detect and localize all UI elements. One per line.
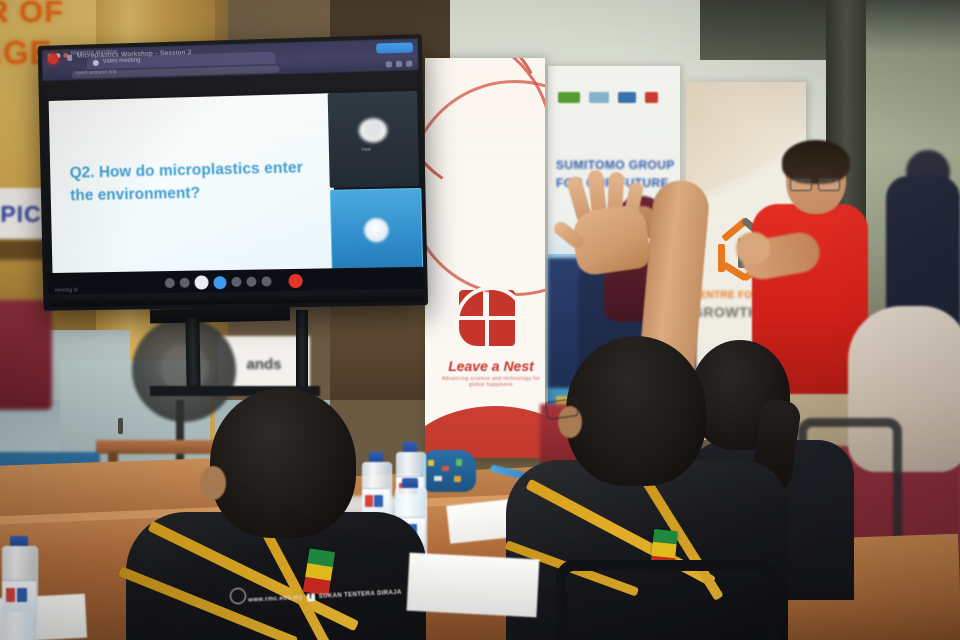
browser-toolbar-icons[interactable]	[386, 61, 413, 68]
meeting-controls[interactable]	[164, 274, 302, 290]
photo-scene: R OF AGE PIC ands SUMITOMO GROUP FOR OUR…	[0, 0, 960, 640]
participant-tiles: Host	[328, 91, 422, 283]
leave-a-nest-name: Leave a Nest	[441, 358, 541, 374]
student-front-right-head	[566, 336, 706, 486]
red-bag	[0, 300, 52, 410]
presentation-slide: Q2. How do microplastics enter the envir…	[49, 93, 336, 279]
mic-button[interactable]	[164, 278, 174, 288]
slide-question-text: Q2. How do microplastics enter the envir…	[70, 156, 319, 208]
facilitator-hand	[736, 232, 770, 264]
standing-fan	[132, 318, 236, 422]
participants-button[interactable]	[231, 277, 241, 287]
leave-a-nest-logo-icon	[459, 290, 515, 346]
worksheet-paper	[407, 553, 540, 618]
leave-a-nest-tagline: Advancing science and technology for glo…	[441, 376, 541, 388]
avatar	[359, 118, 388, 143]
address-bar-text: meet session link	[75, 69, 117, 76]
facilitator-glasses-icon	[790, 178, 842, 189]
share-screen-button[interactable]	[194, 275, 208, 289]
chat-button[interactable]	[246, 277, 256, 287]
participant-tile-1-label: Host	[361, 147, 371, 152]
leave-a-nest-circle	[425, 80, 545, 296]
share-button[interactable]	[376, 42, 413, 53]
door-handle	[118, 418, 123, 434]
pencil-case	[420, 450, 476, 492]
student-front-left-head	[210, 388, 356, 538]
participant-tile-2[interactable]	[330, 188, 424, 279]
browser-tab-label: Video meeting	[103, 58, 141, 65]
participant-tile-1[interactable]: Host	[328, 91, 420, 188]
tv-display: Meeting window Video meeting meet sessio…	[42, 38, 424, 307]
raised-hand	[548, 172, 656, 268]
lock-icon	[67, 55, 72, 61]
pic-sign-label: PIC	[0, 201, 41, 228]
banner-leave-a-nest: Leave a Nest Advancing science and techn…	[425, 58, 545, 458]
ear	[200, 466, 226, 500]
tv-stand-leg	[185, 318, 200, 388]
wall-mounted-tv: Meeting window Video meeting meet sessio…	[38, 34, 428, 311]
end-call-button[interactable]	[288, 274, 302, 288]
sumitomo-line1: SUMITOMO GROUP	[556, 158, 680, 172]
more-options-button[interactable]	[261, 276, 271, 286]
water-bottle	[2, 536, 36, 640]
sign-behind-tv-label: ands	[246, 356, 281, 373]
orange-sign-line1: R OF	[0, 0, 64, 27]
facebook-icon: f	[307, 593, 315, 601]
raise-hand-button[interactable]	[213, 276, 226, 289]
avatar	[364, 218, 389, 243]
camera-button[interactable]	[179, 278, 189, 288]
meeting-stage: Q2. How do microplastics enter the envir…	[43, 89, 424, 289]
meeting-footer-text: meeting id	[55, 287, 78, 293]
chair-front-right	[556, 560, 778, 640]
sumitomo-partner-logos	[558, 88, 670, 106]
tv-stand-arm	[150, 307, 290, 324]
